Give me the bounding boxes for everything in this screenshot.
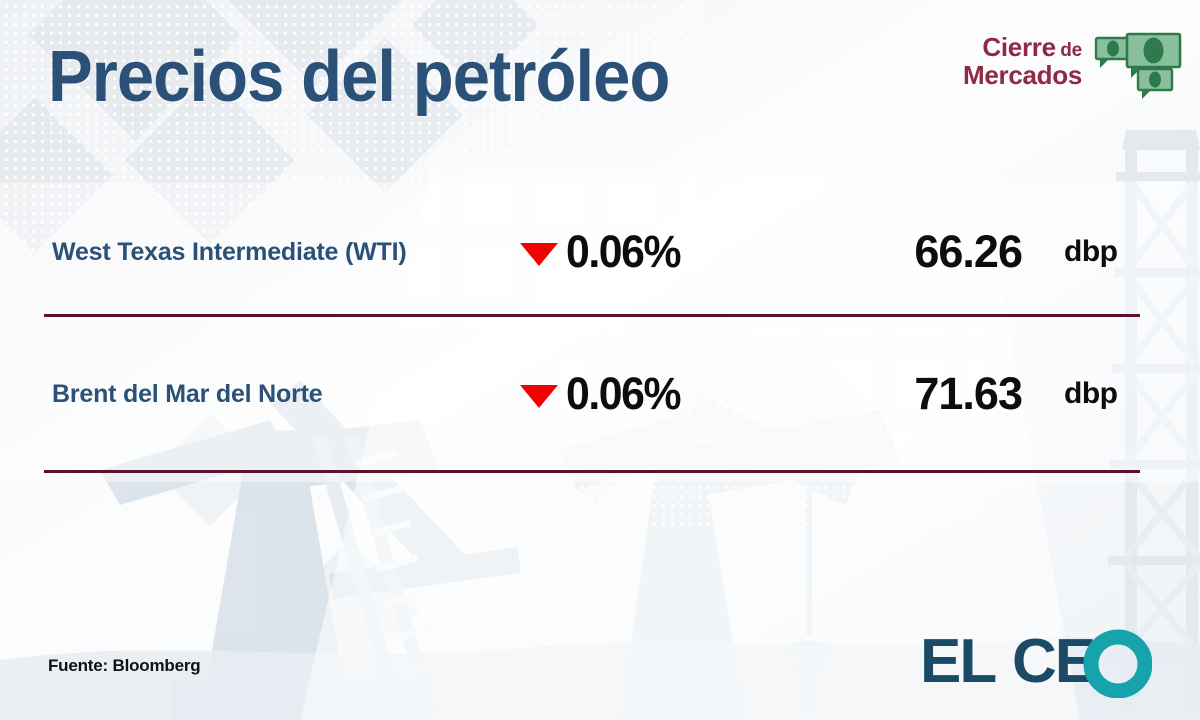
logo-ring-o: [1091, 637, 1145, 691]
el-ceo-logo: EL CE: [920, 628, 1152, 698]
brand-word-cierre: Cierre: [982, 32, 1055, 62]
table-row: Brent del Mar del Norte 0.06% 71.63 dbp: [52, 362, 1142, 426]
row-divider: [44, 314, 1140, 317]
logo-text-ce: CE: [1012, 628, 1094, 696]
change-percent-brent: 0.06%: [566, 368, 680, 420]
price-value-wti: 66.26: [882, 226, 1022, 278]
change-group-wti: 0.06%: [520, 226, 686, 278]
change-percent-wti: 0.06%: [566, 226, 680, 278]
brand-word-de: de: [1060, 40, 1082, 61]
brand-text: Cierre de Mercados: [963, 34, 1082, 89]
row-label-brent: Brent del Mar del Norte: [52, 380, 322, 409]
price-unit-wti: dbp: [1064, 235, 1117, 269]
price-unit-brent: dbp: [1064, 377, 1117, 411]
source-attribution: Fuente: Bloomberg: [48, 656, 200, 676]
triangle-down-icon: [520, 385, 558, 408]
table-row: West Texas Intermediate (WTI) 0.06% 66.2…: [52, 220, 1142, 284]
money-speech-bubbles-icon: [1090, 30, 1186, 102]
change-group-brent: 0.06%: [520, 368, 686, 420]
cierre-de-mercados-logo: Cierre de Mercados: [963, 34, 1186, 102]
brand-line-1: Cierre de: [963, 34, 1082, 62]
price-value-brent: 71.63: [882, 368, 1022, 420]
oil-prices-card: Precios del petróleo Cierre de Mercados: [0, 0, 1200, 720]
row-divider: [44, 470, 1140, 473]
logo-text-el: EL: [920, 628, 995, 696]
brand-word-mercados: Mercados: [963, 62, 1082, 90]
row-label-wti: West Texas Intermediate (WTI): [52, 238, 406, 267]
triangle-down-icon: [520, 243, 558, 266]
dot-grid-pattern-secondary: [560, 330, 980, 530]
page-title: Precios del petróleo: [48, 36, 669, 118]
